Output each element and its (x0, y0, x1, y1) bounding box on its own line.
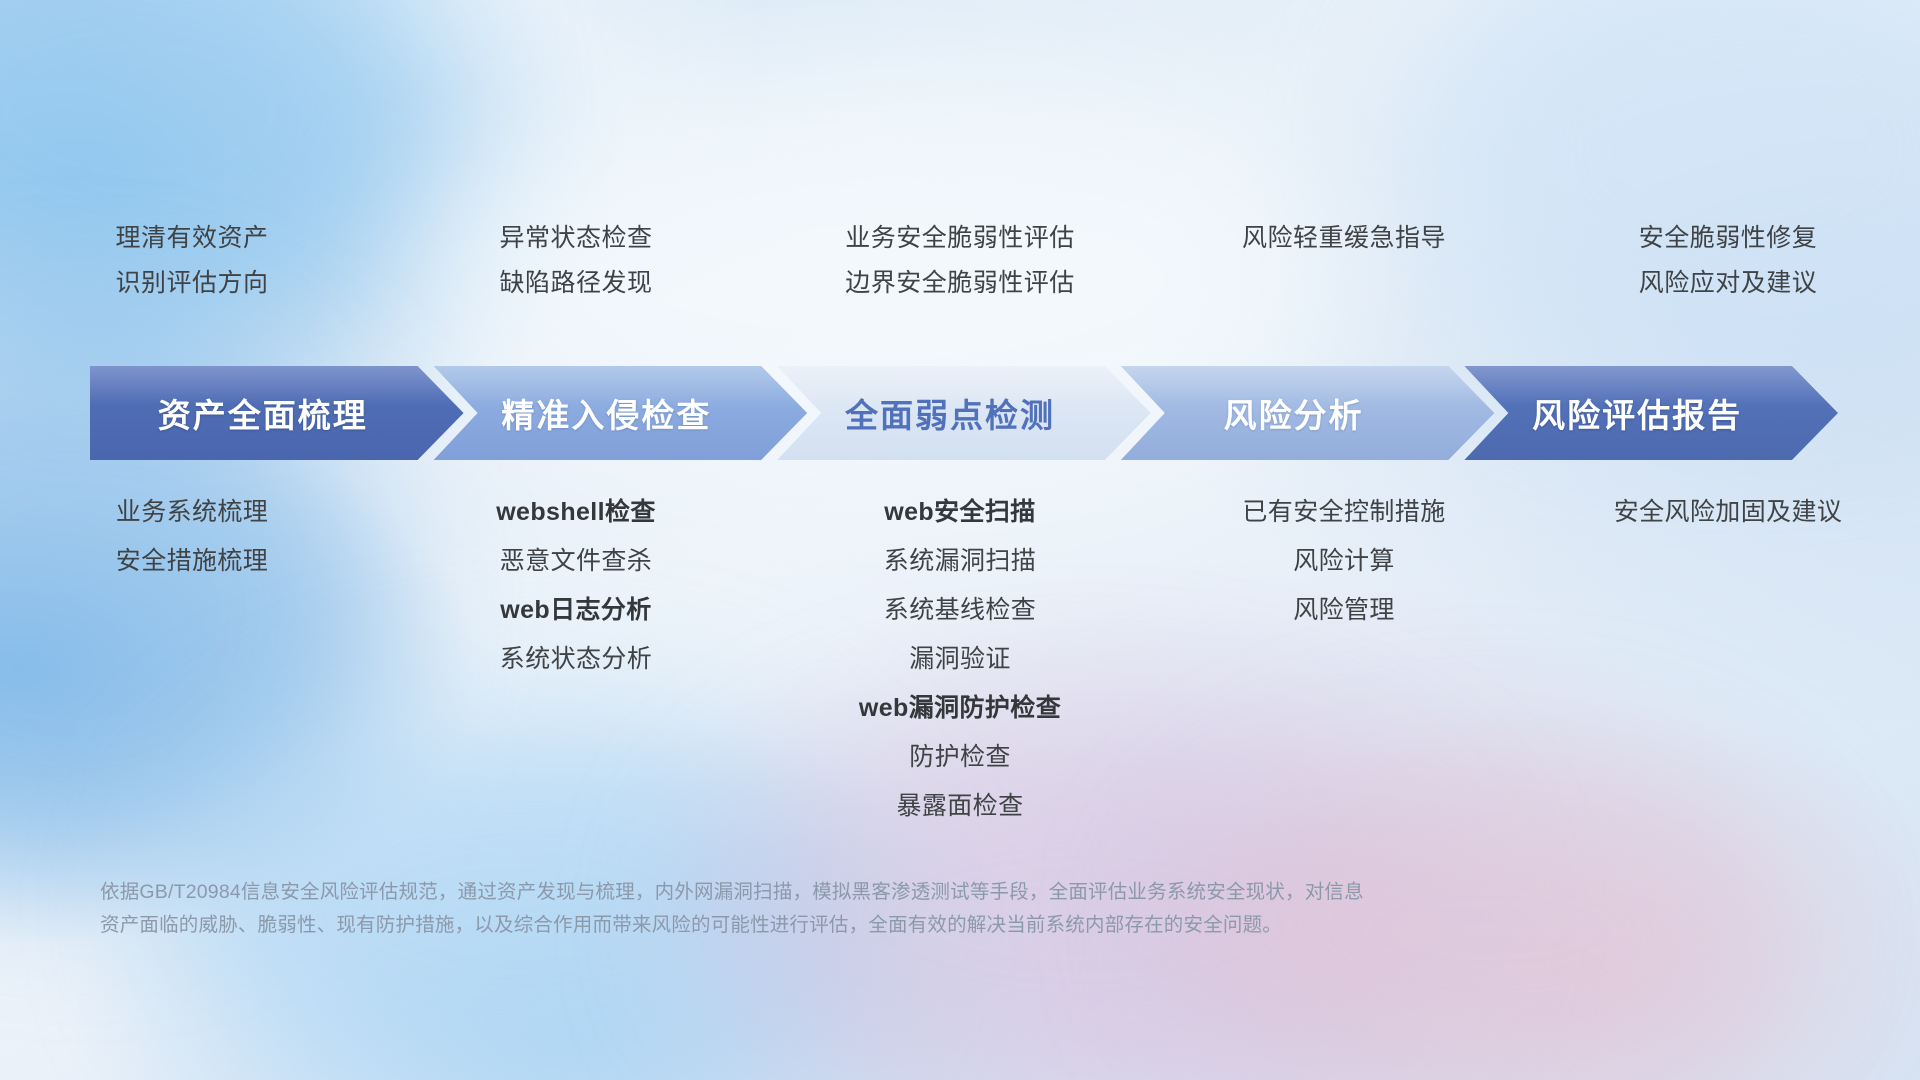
detail-lists-row: 业务系统梳理 安全措施梳理 webshell检查 恶意文件查杀 web日志分析 … (0, 500, 1920, 819)
chevron-stage-4[interactable]: 风险分析 (1121, 366, 1495, 460)
list-item: webshell检查 (496, 500, 656, 525)
top-notes-stage-3: 业务安全脆弱性评估 边界安全脆弱性评估 (768, 226, 1152, 336)
detail-list-stage-1: 业务系统梳理 安全措施梳理 (0, 500, 384, 574)
chevron-label: 风险分析 (1224, 389, 1364, 437)
top-notes-stage-5: 安全脆弱性修复 风险应对及建议 (1536, 226, 1920, 336)
process-chevron-band: 资产全面梳理 精准入侵检查 全面弱点检测 风险分析 风险评估报告 (90, 366, 1838, 460)
chevron-label: 精准入侵检查 (501, 389, 711, 437)
footer-line-2: 资产面临的威胁、脆弱性、现有防护措施，以及综合作用而带来风险的可能性进行评估，全… (100, 909, 1660, 942)
chevron-stage-3[interactable]: 全面弱点检测 (777, 366, 1151, 460)
detail-list-stage-5: 安全风险加固及建议 (1536, 500, 1920, 525)
list-item: 风险计算 (1293, 549, 1395, 574)
list-item: 漏洞验证 (909, 647, 1011, 672)
chevron-label: 全面弱点检测 (845, 389, 1055, 437)
list-item: 系统漏洞扫描 (884, 549, 1036, 574)
chevron-label: 风险评估报告 (1532, 389, 1742, 437)
top-notes-stage-1: 理清有效资产 识别评估方向 (0, 226, 384, 336)
top-note: 理清有效资产 (115, 226, 268, 251)
list-item: 系统基线检查 (884, 598, 1036, 623)
list-item: 安全措施梳理 (116, 549, 268, 574)
list-item: 已有安全控制措施 (1242, 500, 1445, 525)
top-notes-stage-2: 异常状态检查 缺陷路径发现 (384, 226, 768, 336)
list-item: web日志分析 (500, 598, 651, 623)
list-item: 系统状态分析 (500, 647, 652, 672)
top-note: 缺陷路径发现 (499, 271, 652, 296)
list-item: 防护检查 (909, 745, 1011, 770)
top-note: 业务安全脆弱性评估 (845, 226, 1075, 251)
top-note: 安全脆弱性修复 (1639, 226, 1818, 251)
footer-line-1: 依据GB/T20984信息安全风险评估规范，通过资产发现与梳理，内外网漏洞扫描，… (100, 876, 1660, 909)
list-item: web漏洞防护检查 (859, 696, 1061, 721)
top-note: 边界安全脆弱性评估 (845, 271, 1075, 296)
top-note: 识别评估方向 (115, 271, 268, 296)
top-notes-row: 理清有效资产 识别评估方向 异常状态检查 缺陷路径发现 业务安全脆弱性评估 边界… (0, 226, 1920, 336)
list-item: 风险管理 (1293, 598, 1395, 623)
detail-list-stage-3: web安全扫描 系统漏洞扫描 系统基线检查 漏洞验证 web漏洞防护检查 防护检… (768, 500, 1152, 819)
slide-canvas: 理清有效资产 识别评估方向 异常状态检查 缺陷路径发现 业务安全脆弱性评估 边界… (0, 0, 1920, 1080)
list-item: 安全风险加固及建议 (1614, 500, 1843, 525)
chevron-label: 资产全面梳理 (158, 389, 368, 437)
chevron-stage-1[interactable]: 资产全面梳理 (90, 366, 464, 460)
footer-description: 依据GB/T20984信息安全风险评估规范，通过资产发现与梳理，内外网漏洞扫描，… (100, 876, 1660, 942)
chevron-stage-5[interactable]: 风险评估报告 (1464, 366, 1838, 460)
list-item: 暴露面检查 (896, 794, 1023, 819)
list-item: 业务系统梳理 (116, 500, 268, 525)
top-notes-stage-4: 风险轻重缓急指导 (1152, 226, 1536, 336)
chevron-stage-2[interactable]: 精准入侵检查 (434, 366, 808, 460)
top-note: 风险轻重缓急指导 (1242, 226, 1446, 251)
detail-list-stage-4: 已有安全控制措施 风险计算 风险管理 (1152, 500, 1536, 623)
top-note: 异常状态检查 (499, 226, 652, 251)
top-note: 风险应对及建议 (1639, 271, 1818, 296)
list-item: web安全扫描 (884, 500, 1035, 525)
detail-list-stage-2: webshell检查 恶意文件查杀 web日志分析 系统状态分析 (384, 500, 768, 672)
list-item: 恶意文件查杀 (500, 549, 652, 574)
